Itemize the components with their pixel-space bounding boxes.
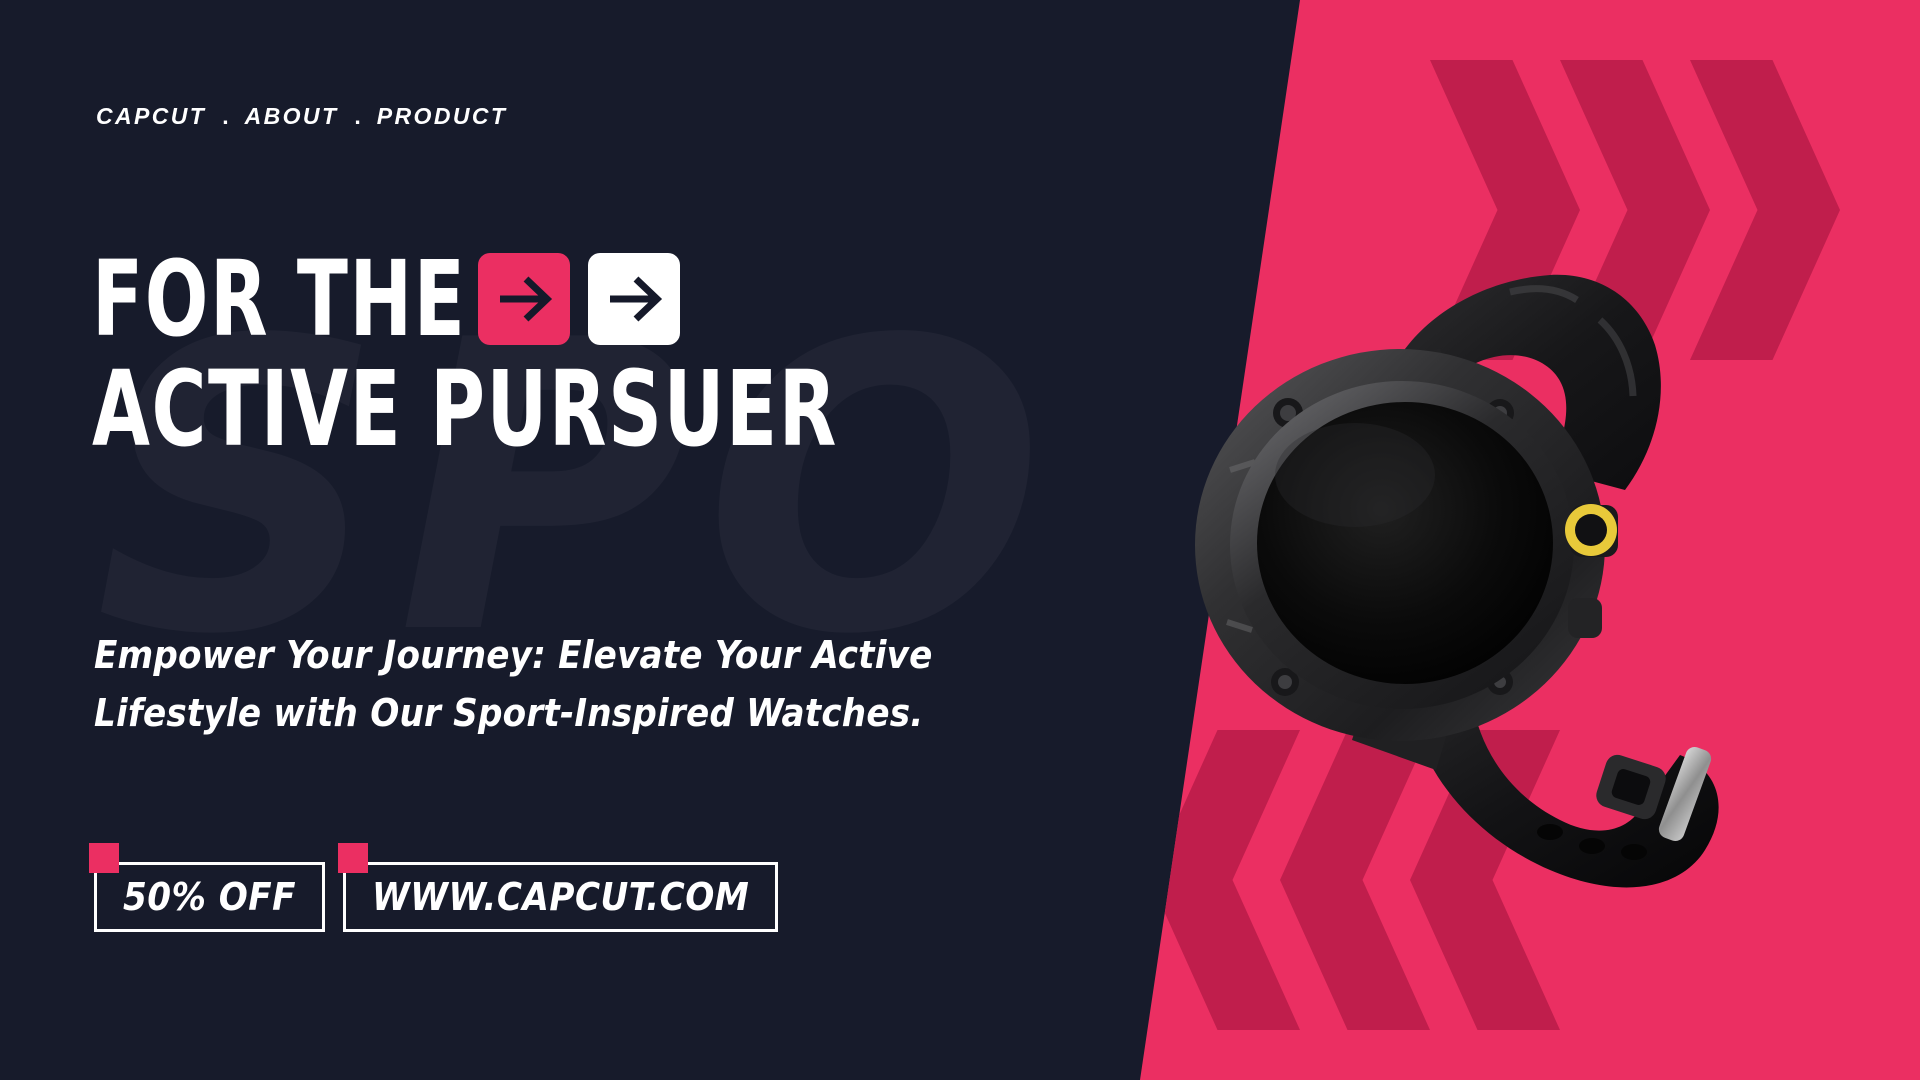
headline-line-1: FOR THE: [92, 246, 467, 352]
promo-banner: SPO CAPCUT . ABOUT . PRODUCT FOR THE: [0, 0, 1920, 1080]
top-navigation: CAPCUT . ABOUT . PRODUCT: [96, 103, 507, 130]
nav-item-capcut[interactable]: CAPCUT: [96, 103, 206, 130]
headline-line-2: ACTIVE PURSUER: [92, 356, 838, 462]
arrow-button-group: [478, 253, 680, 345]
headline-block: FOR THE ACTIVE PURSUER: [92, 246, 1025, 462]
arrow-right-icon: [605, 270, 663, 328]
nav-separator: .: [222, 105, 228, 128]
nav-separator: .: [354, 105, 360, 128]
watch-crown: [1565, 504, 1618, 557]
website-badge[interactable]: WWW.CAPCUT.COM: [343, 862, 778, 932]
subtitle-line-2: Lifestyle with Our Sport-Inspired Watche…: [94, 685, 814, 743]
discount-badge-label: 50% OFF: [123, 875, 296, 919]
badge-corner-square: [89, 843, 119, 873]
nav-item-product[interactable]: PRODUCT: [377, 103, 508, 130]
arrow-right-icon: [495, 270, 553, 328]
subtitle-line-1: Empower Your Journey: Elevate Your Activ…: [94, 627, 814, 685]
badge-row: 50% OFF WWW.CAPCUT.COM: [94, 862, 778, 932]
badge-corner-square: [338, 843, 368, 873]
arrow-right-button-secondary[interactable]: [588, 253, 680, 345]
website-badge-label: WWW.CAPCUT.COM: [372, 875, 749, 919]
product-image-smartwatch: [1080, 170, 1780, 950]
arrow-right-button-primary[interactable]: [478, 253, 570, 345]
discount-badge[interactable]: 50% OFF: [94, 862, 325, 932]
nav-item-about[interactable]: ABOUT: [245, 103, 339, 130]
subtitle-block: Empower Your Journey: Elevate Your Activ…: [94, 627, 814, 743]
